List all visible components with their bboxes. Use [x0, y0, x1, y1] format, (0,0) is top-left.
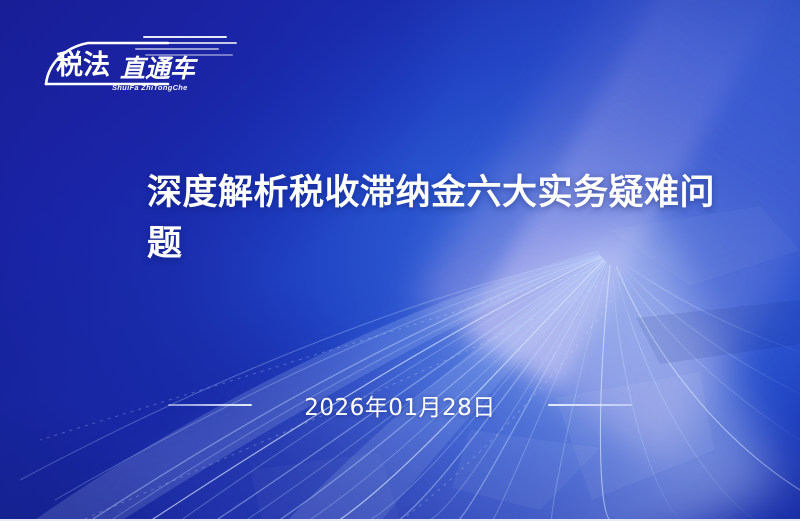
logo-text-part-1: 税法: [56, 50, 110, 81]
slide-content: 税法 直通车 ShuiFa ZhiTongChe 深度解析税收滞纳金六大实务疑难…: [0, 0, 800, 519]
date-row: 2026年01月28日: [0, 388, 800, 422]
page-title: 深度解析税收滞纳金六大实务疑难问题: [147, 168, 721, 270]
date-text: 2026年01月28日: [304, 388, 496, 422]
presentation-title-slide: 税法 直通车 ShuiFa ZhiTongChe 深度解析税收滞纳金六大实务疑难…: [0, 0, 800, 521]
logo-pinyin: ShuiFa ZhiTongChe: [112, 83, 188, 92]
logo-text-part-2: 直通车: [120, 54, 199, 83]
date-rule-left: [168, 404, 252, 406]
date-rule-right: [548, 404, 632, 406]
brand-logo[interactable]: 税法 直通车 ShuiFa ZhiTongChe: [40, 32, 240, 98]
